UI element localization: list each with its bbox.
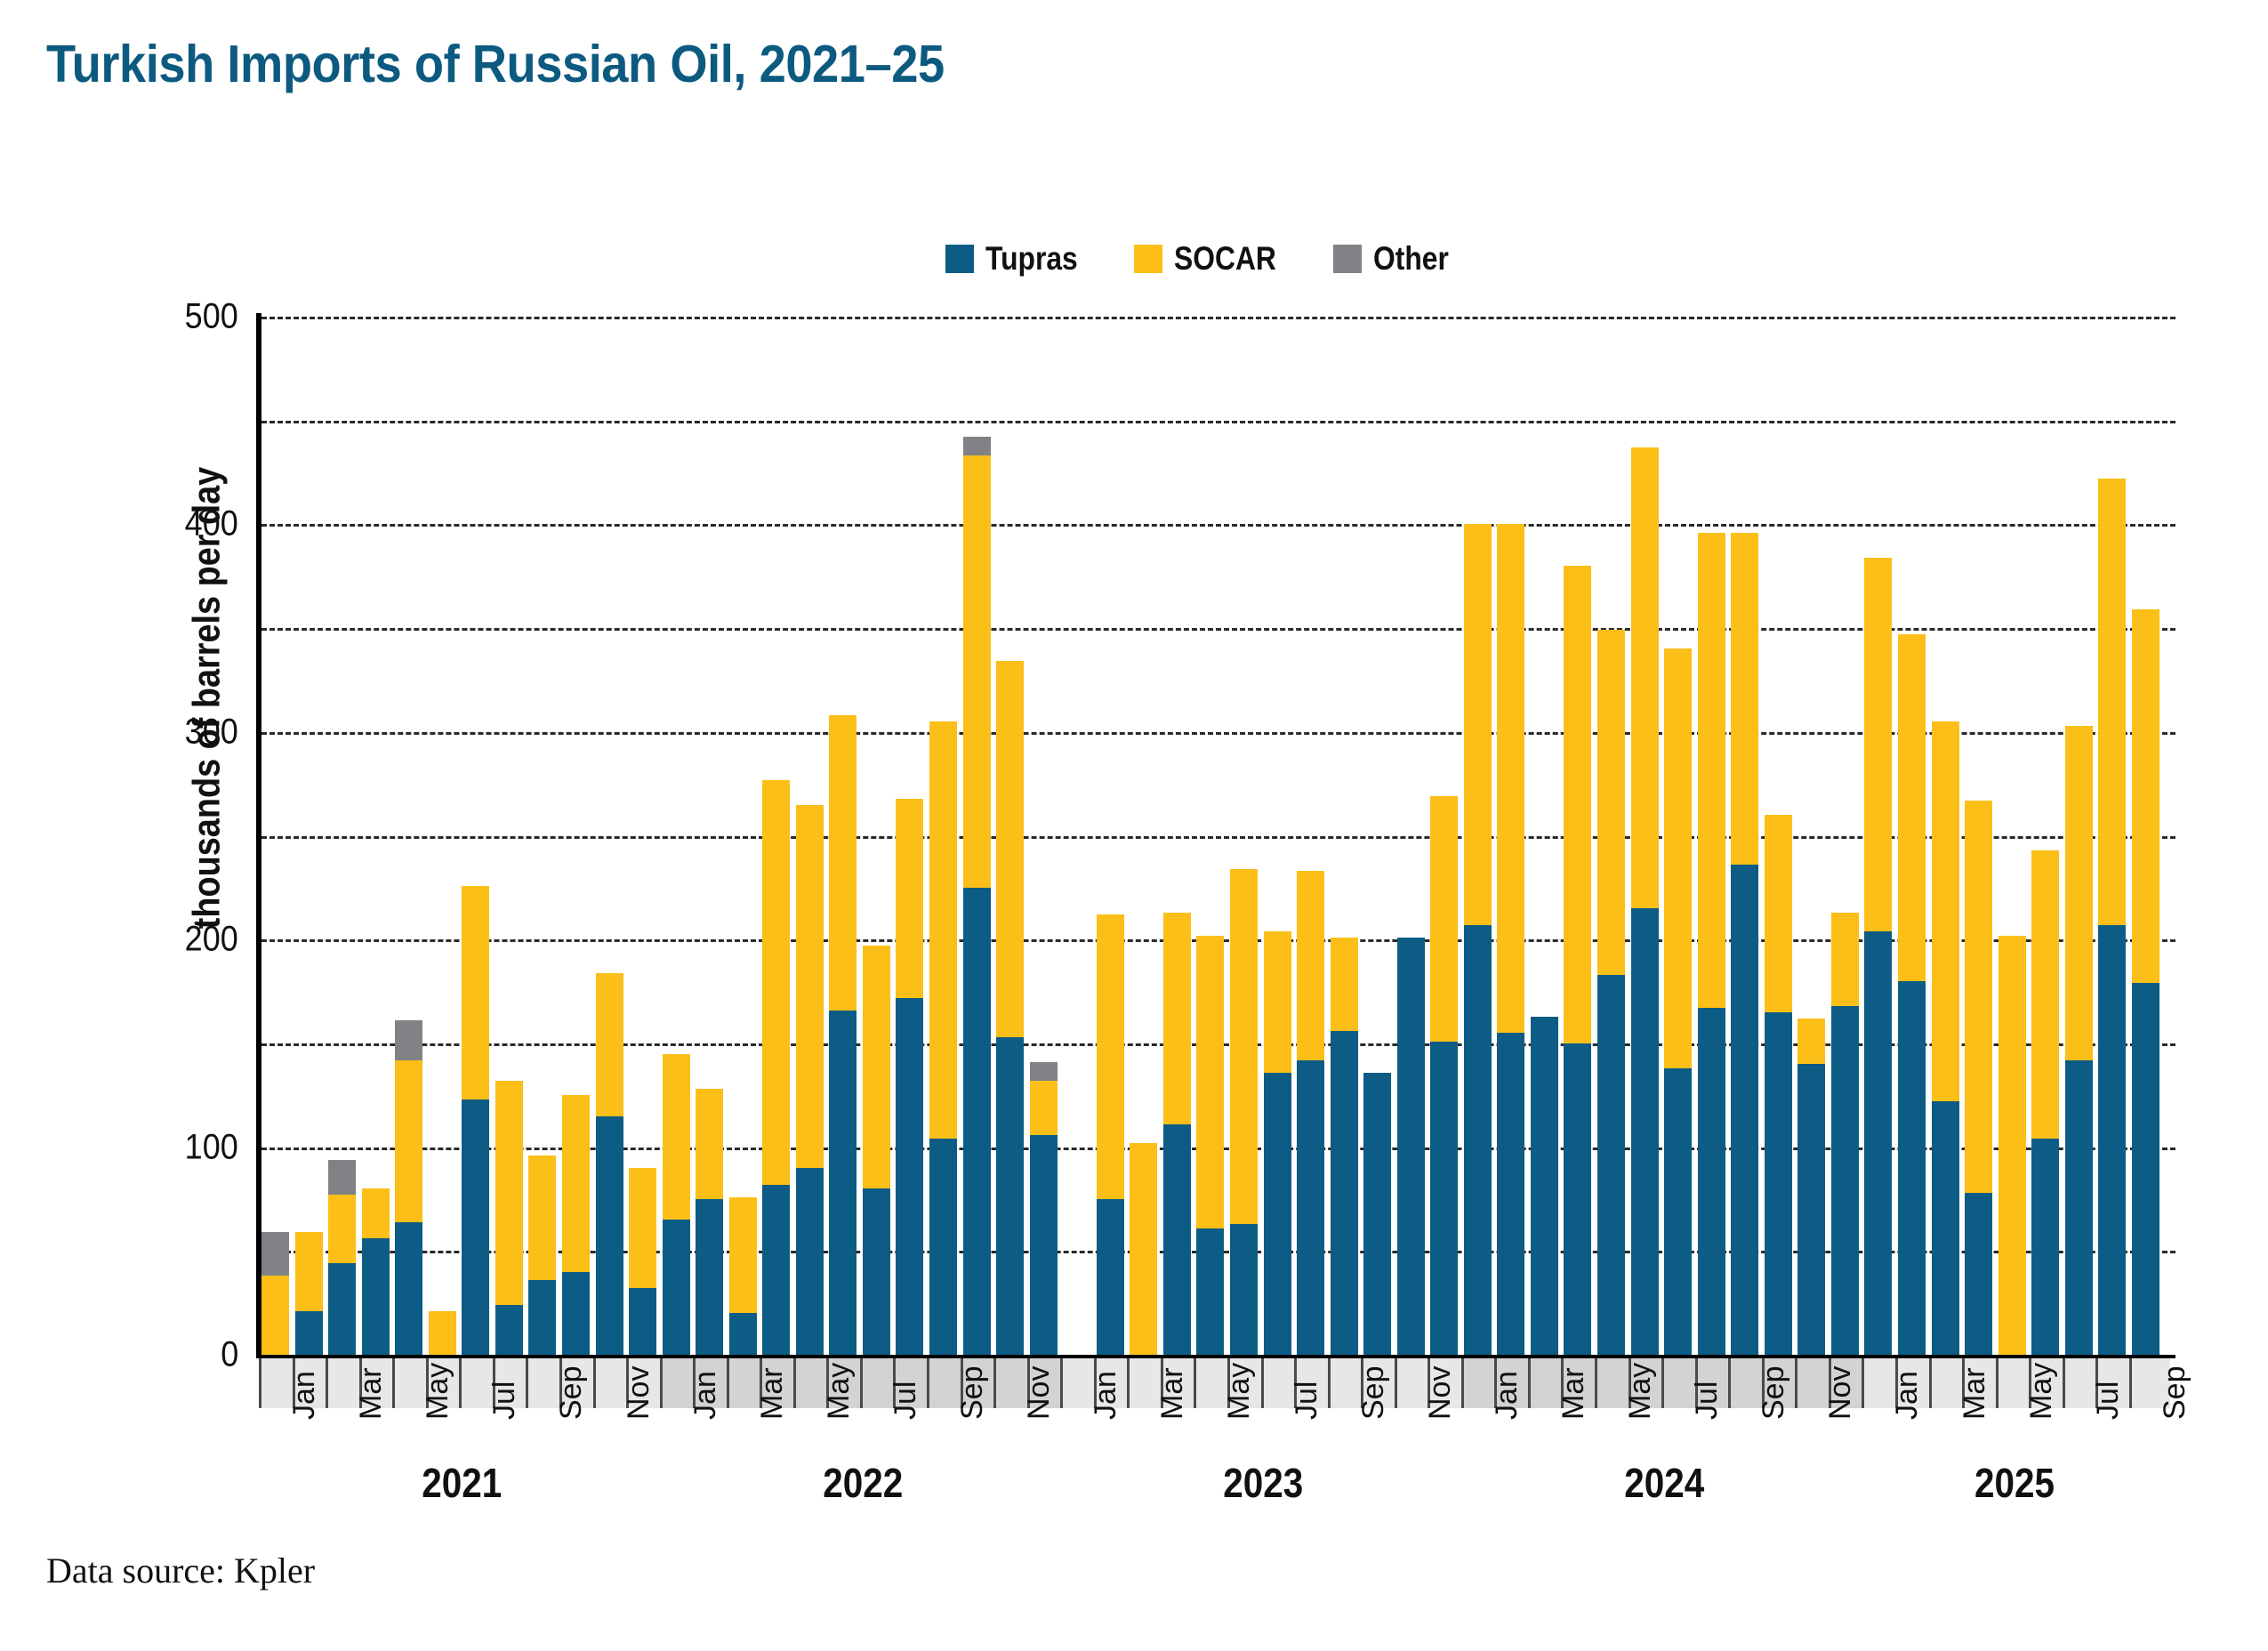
- bar-segment-socar: [696, 1089, 723, 1199]
- bar-segment-socar: [1564, 566, 1591, 1043]
- bar-segment-tupras: [1564, 1043, 1591, 1355]
- x-axis-month-label: Mar: [354, 1367, 389, 1420]
- bar-segment-tupras: [2098, 925, 2126, 1355]
- bar-segment-other: [963, 437, 991, 455]
- bar-segment-socar: [2065, 726, 2093, 1060]
- bar-segment-tupras: [462, 1099, 489, 1355]
- x-axis-tick: [1661, 1358, 1664, 1408]
- bar-segment-socar: [528, 1156, 556, 1280]
- bar-segment-socar: [1765, 815, 1792, 1012]
- bar-segment-tupras: [495, 1305, 523, 1355]
- legend-swatch-other: [1333, 245, 1362, 273]
- bar-segment-tupras: [1731, 865, 1758, 1355]
- bar-segment-other: [261, 1232, 289, 1276]
- bar-segment-tupras: [1965, 1193, 1992, 1355]
- x-axis-month-label: May: [2024, 1363, 2059, 1420]
- bar-segment-tupras: [596, 1116, 623, 1355]
- bar-segment-socar: [762, 780, 790, 1185]
- bar-segment-tupras: [362, 1238, 390, 1355]
- bar-segment-tupras: [729, 1313, 757, 1355]
- bar-segment-socar: [495, 1081, 523, 1305]
- x-axis-month-label: Jul: [889, 1381, 923, 1420]
- bar-segment-tupras: [528, 1280, 556, 1355]
- x-axis-tick: [1595, 1358, 1597, 1408]
- legend-item-socar: SOCAR: [1134, 242, 1293, 275]
- bar-segment-tupras: [2065, 1060, 2093, 1355]
- bar-segment-tupras: [1831, 1006, 1859, 1355]
- x-axis-month-label: Sep: [554, 1366, 589, 1421]
- x-axis-tick: [1929, 1358, 1932, 1408]
- bar-segment-socar: [629, 1168, 656, 1288]
- x-axis-year-label: 2022: [687, 1459, 1040, 1507]
- data-source-note: Data source: Kpler: [46, 1550, 315, 1591]
- x-axis-month-label: Jan: [1089, 1371, 1123, 1420]
- bar-segment-socar: [2098, 479, 2126, 925]
- bar-segment-socar: [729, 1197, 757, 1314]
- bar-segment-tupras: [896, 998, 923, 1355]
- x-axis-tick: [459, 1358, 462, 1408]
- x-axis-month-label: Nov: [1423, 1366, 1458, 1420]
- bar-segment-tupras: [829, 1011, 857, 1355]
- bar-segment-tupras: [1397, 938, 1425, 1355]
- bar-segment-socar: [1798, 1019, 1825, 1064]
- legend-label-socar: SOCAR: [1174, 242, 1276, 275]
- gridline: [261, 421, 2176, 423]
- bar-segment-socar: [1196, 936, 1224, 1228]
- bar-segment-socar: [1230, 869, 1258, 1224]
- bar-segment-tupras: [1163, 1124, 1191, 1355]
- x-axis-month-label: Jul: [487, 1381, 522, 1420]
- x-axis-month-label: Mar: [1155, 1367, 1190, 1420]
- y-tick-label: 500: [185, 297, 238, 337]
- bar-segment-tupras: [395, 1222, 422, 1355]
- x-axis-tick: [2063, 1358, 2065, 1408]
- bar-segment-tupras: [1464, 925, 1492, 1355]
- legend-item-tupras: Tupras: [945, 242, 1093, 275]
- bar-segment-socar: [1631, 447, 1659, 908]
- x-axis-tick: [259, 1358, 261, 1408]
- bar-segment-socar: [562, 1095, 590, 1271]
- bar-segment-tupras: [629, 1288, 656, 1355]
- legend-label-other: Other: [1373, 242, 1449, 275]
- y-tick-label: 200: [185, 920, 238, 960]
- bar-segment-socar: [1130, 1143, 1157, 1355]
- x-axis-year-label: 2024: [1488, 1459, 1841, 1507]
- y-axis-tick-labels: 0100200300400500: [0, 0, 238, 1651]
- bar-segment-tupras: [696, 1199, 723, 1355]
- x-axis-month-label: Nov: [1823, 1366, 1858, 1420]
- x-axis-month-label: Mar: [755, 1367, 790, 1420]
- bar-segment-tupras: [1297, 1060, 1324, 1355]
- x-axis-month-label: Sep: [2158, 1366, 2192, 1421]
- bar-segment-tupras: [295, 1311, 323, 1355]
- x-axis-year-label: 2025: [1883, 1459, 2147, 1507]
- bar-segment-socar: [1999, 936, 2026, 1355]
- bar-segment-other: [1030, 1062, 1058, 1081]
- y-tick-label: 100: [185, 1127, 238, 1167]
- bar-segment-socar: [1864, 558, 1892, 931]
- bar-segment-tupras: [796, 1168, 824, 1355]
- x-axis-month-label: Sep: [1757, 1366, 1791, 1421]
- x-axis-month-label: Jul: [1690, 1381, 1725, 1420]
- bar-segment-tupras: [2031, 1139, 2059, 1355]
- bar-segment-tupras: [562, 1272, 590, 1355]
- x-axis-tick: [526, 1358, 528, 1408]
- x-axis-month-label: Sep: [1356, 1366, 1391, 1421]
- bar-segment-tupras: [1932, 1101, 1959, 1355]
- x-axis-tick: [1862, 1358, 1864, 1408]
- x-axis-tick: [927, 1358, 929, 1408]
- legend-item-other: Other: [1333, 242, 1461, 275]
- bar-segment-socar: [1464, 524, 1492, 924]
- bar-segment-socar: [1163, 913, 1191, 1124]
- bar-segment-tupras: [328, 1263, 356, 1355]
- bar-segment-tupras: [1597, 975, 1625, 1355]
- bar-segment-tupras: [1331, 1031, 1358, 1355]
- bar-segment-socar: [1030, 1081, 1058, 1135]
- bar-segment-tupras: [2132, 983, 2159, 1355]
- x-axis-tick: [793, 1358, 796, 1408]
- x-axis-tick: [593, 1358, 596, 1408]
- bar-segment-tupras: [963, 888, 991, 1355]
- bar-segment-socar: [1831, 913, 1859, 1006]
- bar-segment-tupras: [1430, 1042, 1458, 1355]
- bar-segment-tupras: [1030, 1135, 1058, 1355]
- x-axis-tick: [1060, 1358, 1063, 1408]
- bar-segment-tupras: [1864, 931, 1892, 1355]
- bar-segment-socar: [596, 973, 623, 1116]
- bar-segment-socar: [1932, 721, 1959, 1101]
- x-axis-month-label: Sep: [955, 1366, 990, 1421]
- y-tick-label: 400: [185, 504, 238, 544]
- x-axis-month-label: Jul: [2091, 1381, 2126, 1420]
- x-axis-tick: [1528, 1358, 1531, 1408]
- x-axis-month-label: May: [1623, 1363, 1658, 1420]
- bar-segment-tupras: [1798, 1064, 1825, 1355]
- x-axis-month-label: Jan: [287, 1371, 322, 1420]
- x-axis-tick: [1328, 1358, 1331, 1408]
- x-axis-tick: [727, 1358, 729, 1408]
- bar-segment-tupras: [1531, 1017, 1558, 1355]
- bar-segment-socar: [1731, 533, 1758, 865]
- bar-segment-tupras: [1097, 1199, 1124, 1355]
- x-axis-month-label: Jan: [1490, 1371, 1524, 1420]
- gridline: [261, 524, 2176, 527]
- bar-segment-tupras: [1264, 1073, 1291, 1355]
- bar-segment-socar: [395, 1060, 422, 1222]
- x-axis-tick: [1795, 1358, 1798, 1408]
- bar-segment-tupras: [663, 1220, 690, 1355]
- bar-segment-socar: [829, 715, 857, 1010]
- x-axis-month-label: Nov: [1022, 1366, 1057, 1420]
- x-axis-month-label: Nov: [622, 1366, 656, 1420]
- bar-segment-tupras: [762, 1185, 790, 1355]
- bar-segment-socar: [929, 721, 957, 1139]
- legend-label-tupras: Tupras: [985, 242, 1078, 275]
- x-axis-tick: [1194, 1358, 1196, 1408]
- bar-segment-tupras: [1631, 908, 1659, 1355]
- x-axis-month-label: Jan: [1890, 1371, 1925, 1420]
- x-axis-month-label: May: [1222, 1363, 1257, 1420]
- bar-segment-socar: [429, 1311, 456, 1355]
- bar-segment-tupras: [996, 1037, 1024, 1355]
- bar-segment-tupras: [1698, 1008, 1725, 1355]
- x-axis-tick: [326, 1358, 328, 1408]
- bar-segment-tupras: [1363, 1073, 1391, 1355]
- bar-segment-socar: [896, 799, 923, 998]
- bar-segment-socar: [796, 805, 824, 1168]
- x-axis-year-label: 2023: [1087, 1459, 1440, 1507]
- x-axis-tick: [1728, 1358, 1731, 1408]
- bar-segment-socar: [1597, 630, 1625, 974]
- x-axis-tick: [860, 1358, 863, 1408]
- legend-swatch-socar: [1134, 245, 1162, 273]
- x-axis-month-label: Jan: [688, 1371, 723, 1420]
- x-axis-month-label: Mar: [1958, 1367, 1992, 1420]
- bar-segment-socar: [1965, 801, 1992, 1193]
- x-axis-tick: [1461, 1358, 1464, 1408]
- x-axis-tick: [392, 1358, 395, 1408]
- bar-segment-socar: [1331, 938, 1358, 1031]
- chart-plot-area: [261, 317, 2176, 1355]
- x-axis-tick: [660, 1358, 663, 1408]
- bar-segment-socar: [1698, 533, 1725, 1008]
- bar-segment-tupras: [1497, 1033, 1524, 1355]
- x-axis-month-label: Mar: [1556, 1367, 1591, 1420]
- bar-segment-socar: [261, 1276, 289, 1355]
- y-tick-label: 0: [221, 1335, 238, 1375]
- bar-segment-tupras: [929, 1139, 957, 1355]
- bar-segment-tupras: [1664, 1068, 1692, 1355]
- bar-segment-socar: [863, 946, 890, 1188]
- bar-segment-tupras: [1765, 1012, 1792, 1355]
- bar-segment-socar: [1264, 931, 1291, 1073]
- bar-segment-socar: [663, 1054, 690, 1220]
- bar-segment-socar: [295, 1232, 323, 1311]
- bar-segment-socar: [1664, 648, 1692, 1067]
- bar-segment-tupras: [1898, 981, 1926, 1355]
- bar-segment-socar: [1430, 796, 1458, 1041]
- bar-segment-socar: [328, 1195, 356, 1263]
- bar-segment-socar: [1297, 871, 1324, 1059]
- x-axis-band-strip: [261, 1358, 2170, 1408]
- bar-segment-other: [395, 1020, 422, 1059]
- x-axis-tick: [1127, 1358, 1130, 1408]
- x-axis-tick: [1996, 1358, 1999, 1408]
- legend-swatch-tupras: [945, 245, 974, 273]
- bar-segment-tupras: [1230, 1224, 1258, 1355]
- x-axis-tick: [1261, 1358, 1264, 1408]
- x-axis-tick: [993, 1358, 996, 1408]
- x-axis-month-label: May: [421, 1363, 455, 1420]
- x-axis-month-label: Jul: [1290, 1381, 1324, 1420]
- y-tick-label: 300: [185, 712, 238, 752]
- gridline: [261, 317, 2176, 319]
- bar-segment-other: [328, 1160, 356, 1196]
- bar-segment-socar: [362, 1188, 390, 1238]
- bar-segment-socar: [963, 455, 991, 887]
- bar-segment-socar: [462, 886, 489, 1099]
- bar-segment-socar: [1097, 914, 1124, 1199]
- bar-segment-tupras: [1196, 1228, 1224, 1355]
- x-axis-tick: [1395, 1358, 1397, 1408]
- bar-segment-socar: [996, 661, 1024, 1036]
- bar-segment-socar: [1898, 634, 1926, 981]
- bar-segment-socar: [2031, 850, 2059, 1139]
- bar-segment-socar: [2132, 609, 2159, 983]
- x-axis-tick: [2129, 1358, 2132, 1408]
- x-axis-month-label: May: [822, 1363, 857, 1420]
- bar-segment-tupras: [863, 1188, 890, 1355]
- x-axis-year-label: 2021: [286, 1459, 639, 1507]
- chart-legend: Tupras SOCAR Other: [945, 242, 1461, 275]
- bar-segment-socar: [1497, 524, 1524, 1033]
